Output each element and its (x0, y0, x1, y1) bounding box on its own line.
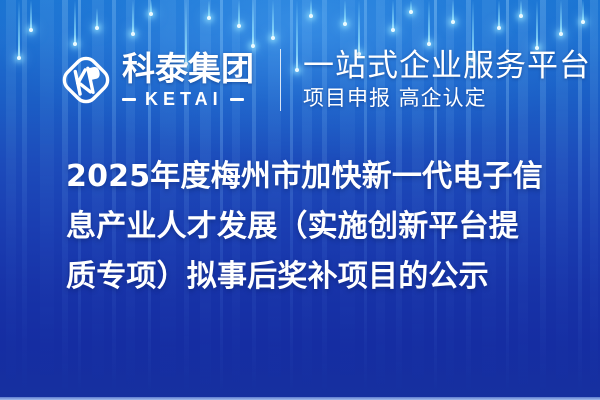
light-particle (30, 0, 32, 30)
tagline-secondary: 项目申报 高企认定 (303, 87, 591, 110)
page-title: 2025年度梅州市加快新一代电子信 息产业人才发展（实施创新平台提 质专项）拟事… (66, 152, 554, 302)
light-particle (520, 0, 522, 16)
page-title-line-1: 2025年度梅州市加快新一代电子信 (66, 152, 554, 202)
light-particle (238, 0, 240, 26)
light-particle (310, 0, 312, 16)
light-particle (498, 0, 500, 28)
light-particle (452, 0, 454, 22)
header-divider (280, 49, 281, 111)
banner-header: 科泰集团 KETAI 一站式企业服务平台 项目申报 高企认定 (0, 36, 600, 124)
tagline-primary: 一站式企业服务平台 (303, 50, 591, 83)
logo-wordmark: 科泰集团 KETAI (122, 52, 254, 108)
logo-company-name-en-row: KETAI (122, 90, 254, 108)
light-particle (344, 0, 346, 24)
light-particle (560, 0, 562, 34)
light-particle (392, 0, 394, 30)
light-particle (208, 0, 210, 18)
light-particle (150, 0, 152, 14)
light-particle (410, 0, 412, 12)
light-particle (132, 0, 134, 34)
header-tagline: 一站式企业服务平台 项目申报 高企认定 (303, 50, 591, 111)
page-title-line-2: 息产业人才发展（实施创新平台提 (66, 202, 554, 252)
light-particle (96, 8, 98, 28)
logo-company-name-cn: 科泰集团 (122, 52, 254, 85)
logo-dash-left-icon (122, 98, 136, 101)
logo-dash-right-icon (230, 98, 244, 101)
light-particle (272, 0, 274, 38)
page-title-line-3: 质专项）拟事后奖补项目的公示 (66, 252, 554, 302)
ketai-kt-monogram-icon (56, 50, 116, 110)
light-particle (582, 0, 584, 22)
logo-company-name-en: KETAI (143, 90, 223, 108)
promo-banner: 科泰集团 KETAI 一站式企业服务平台 项目申报 高企认定 2025年度梅州市… (0, 0, 600, 400)
